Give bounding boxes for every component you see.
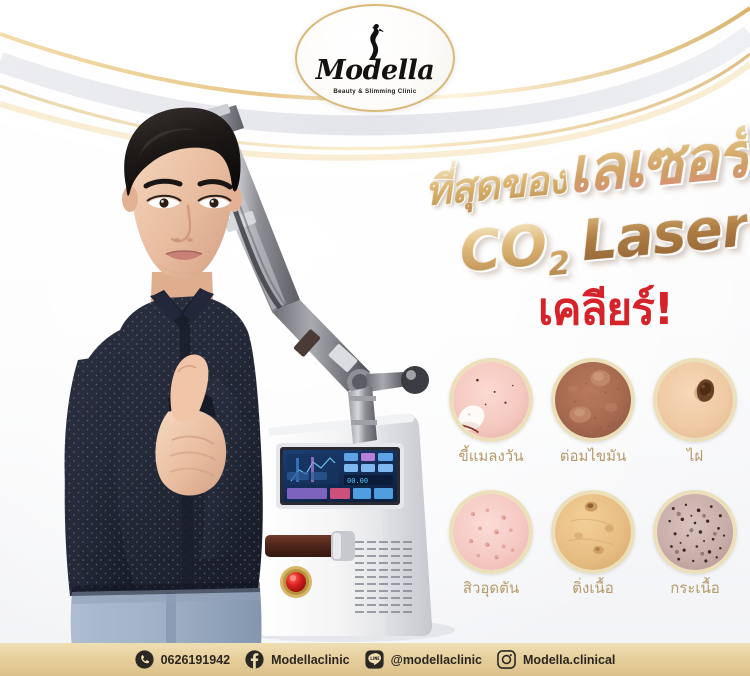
condition-item[interactable]: ไฝ [647,358,743,486]
condition-grid: ขี้แมลงวัน [443,358,743,618]
condition-photo-skin-tan-skintag [551,490,635,574]
instagram-icon [497,650,516,669]
condition-photo-skin-brown-sebaceous [551,358,635,442]
condition-label: กระเนื้อ [670,579,720,597]
condition-photo-skin-mauve-keratosis [653,490,737,574]
condition-item[interactable]: ต่อมไขมัน [545,358,641,486]
svg-text:00.00: 00.00 [347,477,368,485]
contact-line[interactable]: @modellaclinic [365,650,482,669]
contact-footer-bar: 0626191942 Modellaclinic [0,643,750,676]
condition-photo-skin-tan-mole [653,358,737,442]
condition-label: ติ่งเนื้อ [572,579,613,597]
contact-line-text: @modellaclinic [391,653,482,667]
condition-photo-skin-pink-acne [449,490,533,574]
contact-facebook-text: Modellaclinic [271,653,350,667]
smiling-man-thumbs-up [65,108,263,664]
contact-facebook[interactable]: Modellaclinic [245,650,350,669]
condition-label: ต่อมไขมัน [560,447,627,465]
contact-phone-text: 0626191942 [161,653,231,667]
condition-item[interactable]: สิวอุดตัน [443,490,539,618]
facebook-icon [245,650,264,669]
laser-machine: 00.00 [235,414,455,642]
condition-label: ขี้แมลงวัน [458,447,523,465]
laser-control-touchscreen: 00.00 [283,450,397,502]
phone-icon [135,650,154,669]
condition-label: ไฝ [687,447,703,465]
contact-instagram-text: Modella.clinical [523,653,615,667]
condition-item[interactable]: ติ่งเนื้อ [545,490,641,618]
contact-phone[interactable]: 0626191942 [135,650,231,669]
promo-poster: Modella Beauty & Slimming Clinic [0,0,750,676]
condition-item[interactable]: ขี้แมลงวัน [443,358,539,486]
contact-instagram[interactable]: Modella.clinical [497,650,615,669]
callout-clear: เคลียร์! [538,288,673,332]
line-icon [365,650,384,669]
condition-photo-skin-pink-mole [449,358,533,442]
condition-label: สิวอุดตัน [463,579,519,597]
condition-item[interactable]: กระเนื้อ [647,490,743,618]
